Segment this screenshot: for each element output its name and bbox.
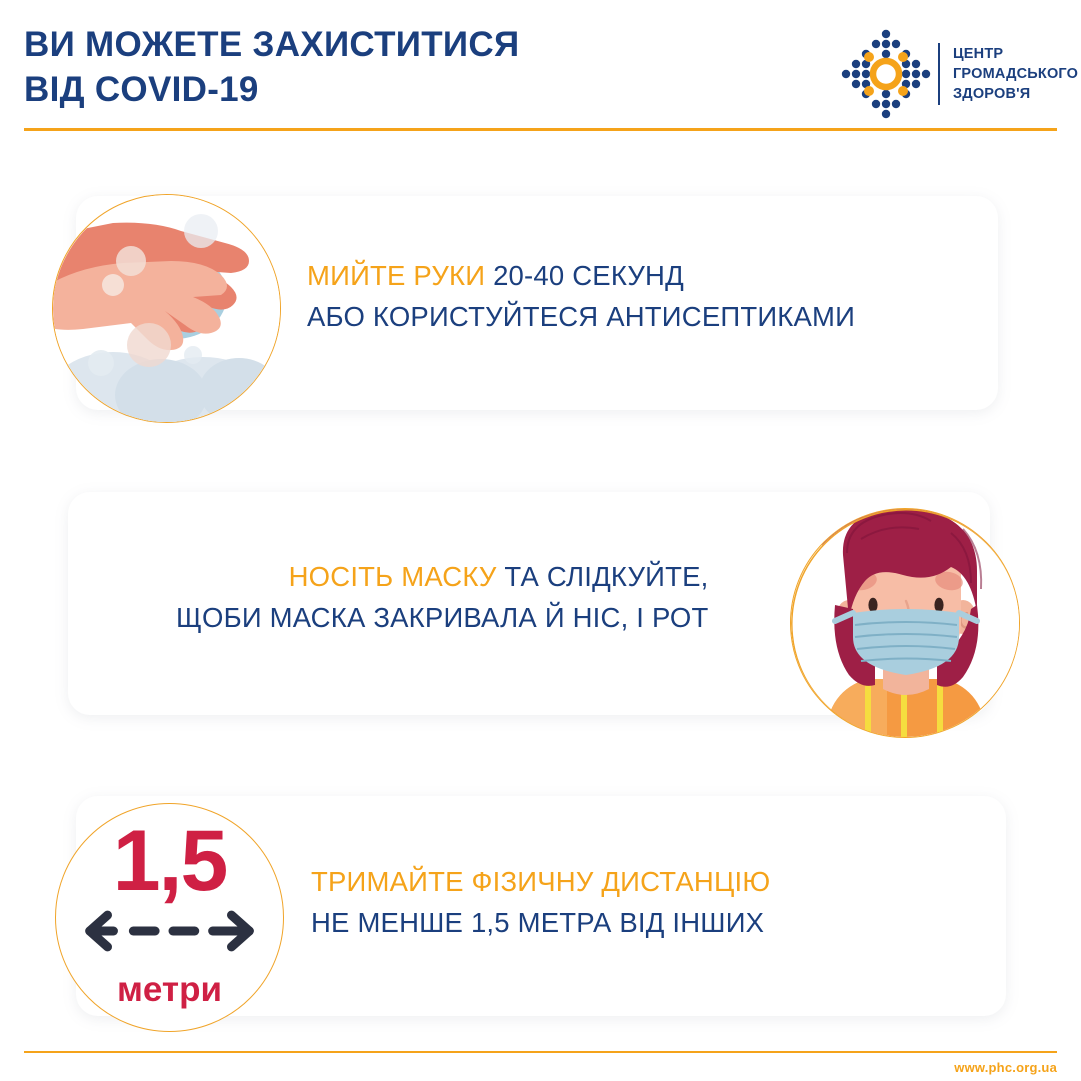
card-3-highlight: ТРИМАЙТЕ ФІЗИЧНУ ДИСТАНЦІЮ <box>311 866 770 897</box>
double-arrow-icon <box>56 908 283 954</box>
diamond-dots-ring-icon <box>838 26 934 122</box>
footer-url[interactable]: www.phc.org.ua <box>954 1060 1057 1075</box>
card-wash-hands-text: МИЙТЕ РУКИ 20-40 СЕКУНД АБО КОРИСТУЙТЕСЯ… <box>307 255 855 338</box>
logo-text: ЦЕНТР ГРОМАДСЬКОГО ЗДОРОВ'Я <box>953 44 1078 104</box>
header-divider <box>24 128 1057 131</box>
card-1-line2: АБО КОРИСТУЙТЕСЯ АНТИСЕПТИКАМИ <box>307 296 855 337</box>
distance-arrow-icon: 1,5 метри <box>55 803 284 1032</box>
card-1-highlight: МИЙТЕ РУКИ <box>307 260 493 291</box>
card-2-line2: ЩОБИ МАСКА ЗАКРИВАЛА Й НІС, І РОТ <box>176 597 708 638</box>
logo[interactable]: ЦЕНТР ГРОМАДСЬКОГО ЗДОРОВ'Я <box>838 26 1063 122</box>
card-2-highlight: НОСІТЬ МАСКУ <box>289 561 505 592</box>
logo-divider <box>938 43 940 105</box>
card-physical-distance-text: ТРИМАЙТЕ ФІЗИЧНУ ДИСТАНЦІЮ НЕ МЕНШЕ 1,5 … <box>311 861 770 944</box>
hands-washing-with-soap-icon <box>52 194 281 423</box>
person-wearing-face-mask-icon <box>790 508 1020 738</box>
distance-unit: метри <box>56 972 283 1007</box>
card-3-line2: НЕ МЕНШЕ 1,5 МЕТРА ВІД ІНШИХ <box>311 902 770 943</box>
distance-value: 1,5 <box>56 818 283 904</box>
card-2-line1-rest: ТА СЛІДКУЙТЕ, <box>504 561 708 592</box>
card-1-line1-rest: 20-40 СЕКУНД <box>493 260 684 291</box>
infographic-page: ВИ МОЖЕТЕ ЗАХИСТИТИСЯ ВІД COVID-19 <box>0 0 1081 1081</box>
footer-divider <box>24 1051 1057 1053</box>
card-wear-mask-text: НОСІТЬ МАСКУ ТА СЛІДКУЙТЕ, ЩОБИ МАСКА ЗА… <box>176 556 708 639</box>
page-title: ВИ МОЖЕТЕ ЗАХИСТИТИСЯ ВІД COVID-19 <box>24 22 724 112</box>
